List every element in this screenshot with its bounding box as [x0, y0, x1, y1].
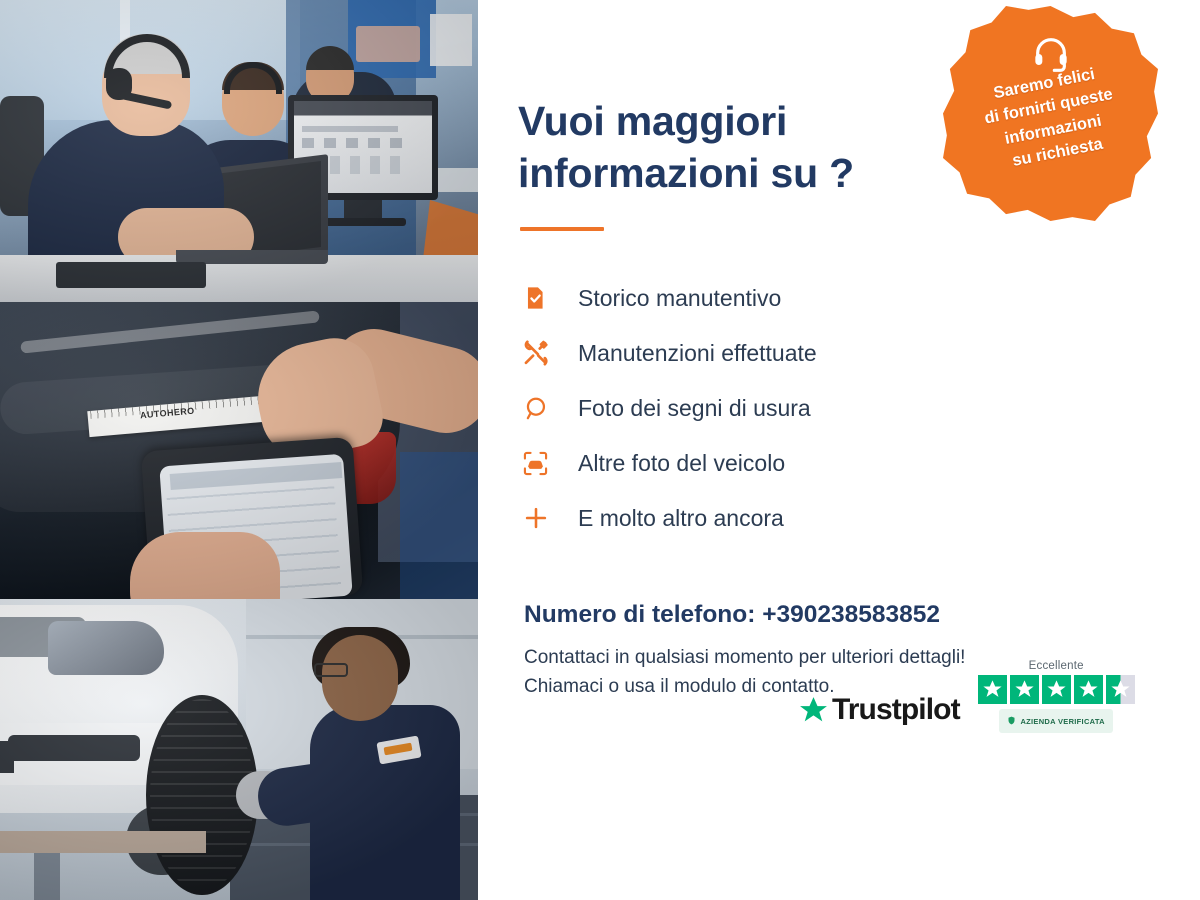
trustpilot-star-icon — [798, 695, 829, 726]
star-filled — [1042, 675, 1071, 704]
feature-label: Foto dei segni di usura — [564, 395, 811, 422]
feature-label: Storico manutentivo — [564, 285, 781, 312]
trustpilot-logo: Trustpilot — [798, 693, 960, 733]
star-filled — [1010, 675, 1039, 704]
headset-icon — [1031, 33, 1071, 73]
page-title: Vuoi maggiori informazioni su ? — [518, 95, 938, 200]
verified-badge: AZIENDA VERIFICATA — [999, 709, 1112, 733]
feature-label: E molto altro ancora — [564, 505, 784, 532]
feature-item-manutenzioni-effettuate: Manutenzioni effettuate — [522, 326, 1200, 381]
star-filled — [978, 675, 1007, 704]
feature-label: Altre foto del veicolo — [564, 450, 785, 477]
title-divider — [520, 227, 604, 231]
photo-call-center — [0, 0, 478, 302]
phone-number-line[interactable]: Numero di telefono: +390238583852 — [524, 601, 1200, 629]
car-focus-frame-icon — [522, 450, 564, 477]
content-column: Vuoi maggiori informazioni su ? Saremo f… — [478, 0, 1200, 900]
photo-column: AUTOHERO — [0, 0, 478, 900]
document-check-icon — [522, 285, 564, 311]
trustpilot-rating: Eccellente — [978, 660, 1135, 733]
crossed-tools-icon — [522, 339, 564, 367]
feature-item-storico-manutentivo: Storico manutentivo — [522, 271, 1200, 326]
rating-label: Eccellente — [978, 660, 1135, 672]
shield-check-icon — [1007, 712, 1016, 730]
feature-list: Storico manutentivo Manutenzioni effettu… — [522, 271, 1200, 546]
page-title-line2: informazioni su ? — [518, 150, 854, 196]
feature-item-molto-altro: E molto altro ancora — [522, 491, 1200, 546]
star-rating — [978, 675, 1135, 704]
search-circle-icon — [522, 395, 564, 422]
contact-note-line2: Chiamaci o usa il modulo di contatto. — [524, 676, 835, 697]
promo-badge: Saremo felici di fornirti queste informa… — [943, 6, 1158, 221]
star-filled — [1074, 675, 1103, 704]
feature-item-foto-segni-usura: Foto dei segni di usura — [522, 381, 1200, 436]
plus-icon — [522, 504, 564, 532]
trustpilot-wordmark: Trustpilot — [832, 693, 960, 727]
trustpilot-widget[interactable]: Trustpilot Eccellente — [798, 660, 1135, 733]
page-title-line1: Vuoi maggiori — [518, 98, 787, 144]
photo-wheel-inspection — [0, 599, 478, 900]
photo-vehicle-inspection: AUTOHERO — [0, 302, 478, 599]
verified-label: AZIENDA VERIFICATA — [1020, 717, 1104, 726]
feature-label: Manutenzioni effettuate — [564, 340, 817, 367]
feature-item-altre-foto-veicolo: Altre foto del veicolo — [522, 436, 1200, 491]
promo-panel: AUTOHERO — [0, 0, 1200, 900]
star-half — [1106, 675, 1135, 704]
